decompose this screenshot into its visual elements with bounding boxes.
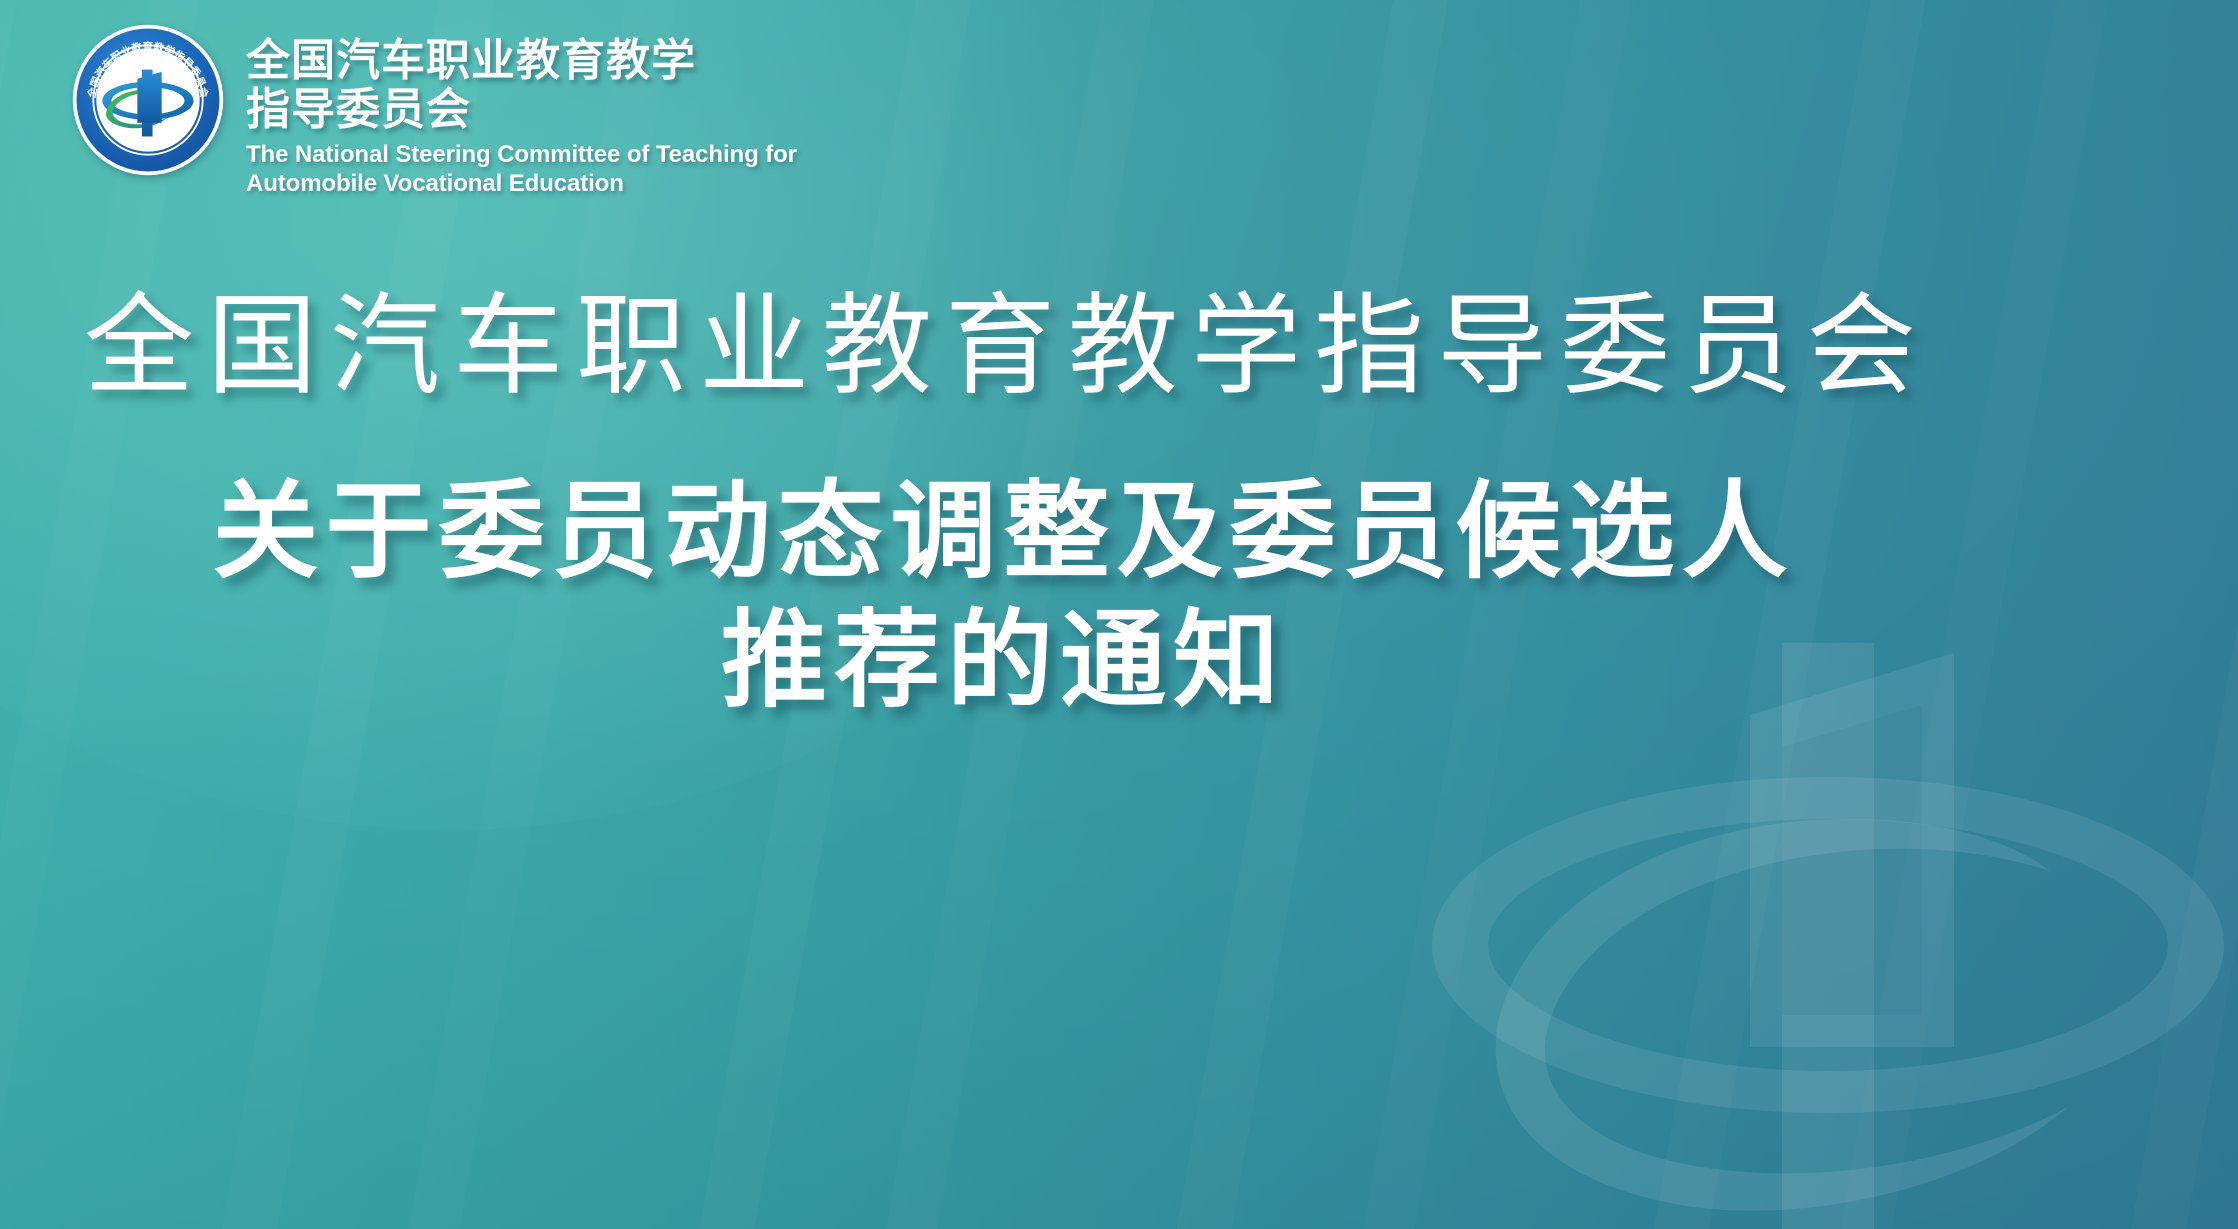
- org-name-en-line2: Automobile Vocational Education: [246, 169, 797, 198]
- header-text-block: 全国汽车职业教育教学 指导委员会 The National Steering C…: [246, 24, 797, 198]
- page-title-line-3: 推荐的通知: [0, 597, 2000, 726]
- org-name-en-line1: The National Steering Committee of Teach…: [246, 140, 797, 169]
- page-title-line-1: 全国汽车职业教育教学指导委员会: [0, 282, 2000, 412]
- main-title-block: 全国汽车职业教育教学指导委员会 关于委员动态调整及委员候选人 推荐的通知: [0, 282, 2000, 726]
- org-name-cn-line2: 指导委员会: [246, 85, 797, 134]
- header-lockup: 全国汽车职业教育教学指导委员会 NSCTAVE 全国汽车职业教育教学 指导委员会: [72, 24, 797, 198]
- org-name-cn-line1: 全国汽车职业教育教学: [246, 36, 797, 85]
- page-title-line-2: 关于委员动态调整及委员候选人: [0, 468, 2000, 597]
- slide-canvas: 全国汽车职业教育教学指导委员会 NSCTAVE 全国汽车职业教育教学 指导委员会: [0, 0, 2238, 1229]
- nsctave-seal-logo: 全国汽车职业教育教学指导委员会 NSCTAVE: [72, 24, 224, 176]
